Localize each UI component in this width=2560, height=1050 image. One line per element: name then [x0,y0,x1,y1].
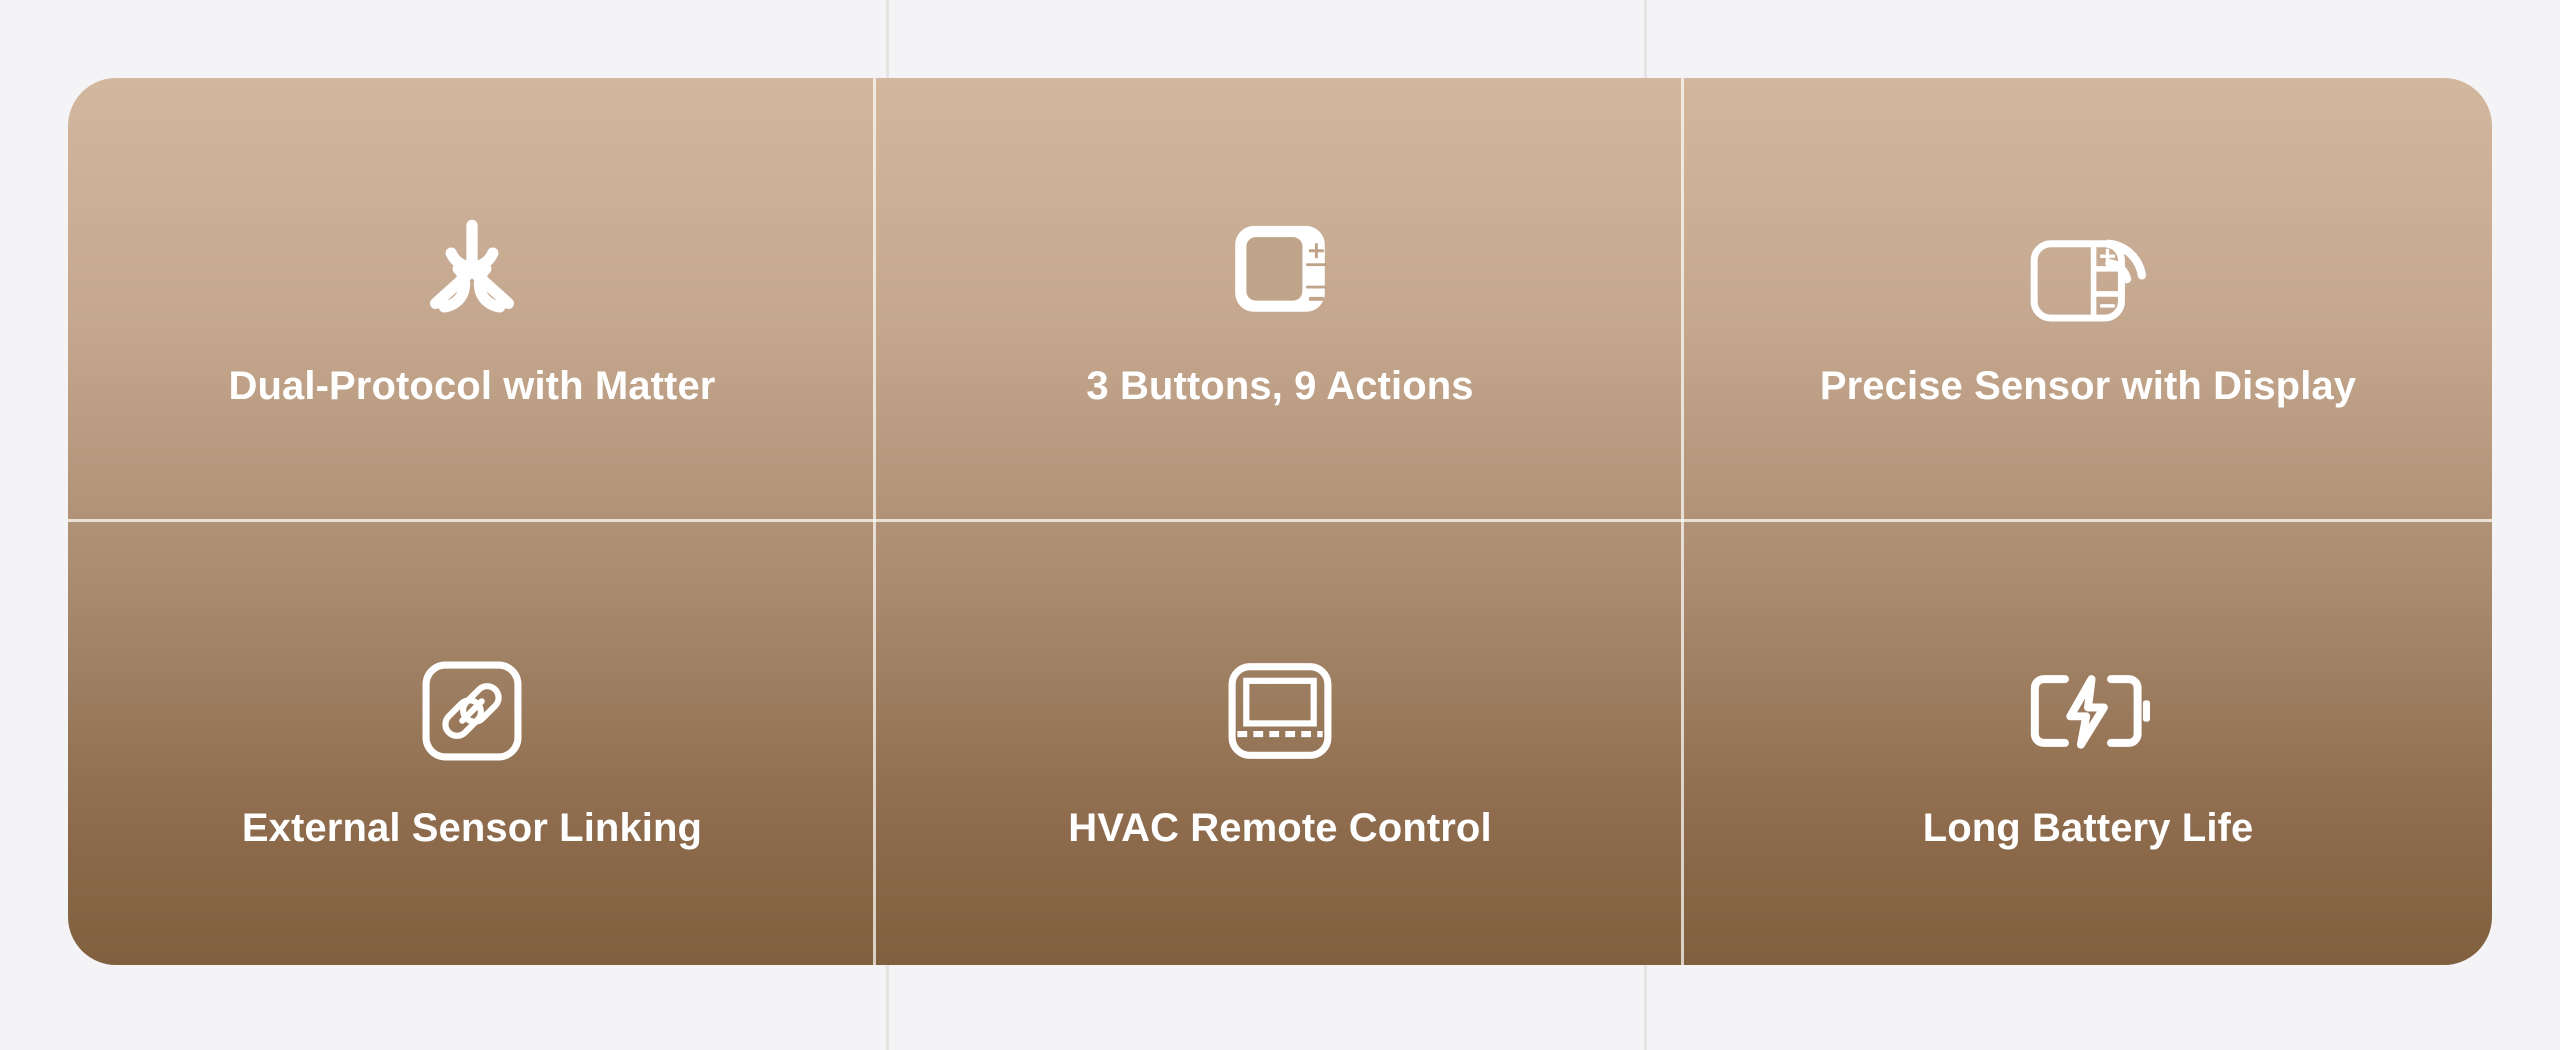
feature-label: Dual-Protocol with Matter [229,364,716,408]
feature-label: External Sensor Linking [242,806,702,850]
matter-logo-icon [397,192,547,342]
feature-cell-long-battery-life[interactable]: Long Battery Life [1684,522,2492,966]
feature-label: Long Battery Life [1923,806,2254,850]
feature-cell-hvac-remote-control[interactable]: HVAC Remote Control [876,522,1684,966]
feature-cell-three-buttons-nine-actions[interactable]: 3 Buttons, 9 Actions [876,78,1684,522]
battery-bolt-icon [2013,636,2163,786]
feature-cell-dual-protocol-matter[interactable]: Dual-Protocol with Matter [68,78,876,522]
hvac-unit-icon [1205,636,1355,786]
feature-label: 3 Buttons, 9 Actions [1086,364,1473,408]
wireless-sensor-display-icon [2013,192,2163,342]
feature-label: HVAC Remote Control [1068,806,1491,850]
feature-cell-precise-sensor-display[interactable]: Precise Sensor with Display [1684,78,2492,522]
chain-link-icon [397,636,547,786]
thermostat-buttons-icon [1205,192,1355,342]
feature-label: Precise Sensor with Display [1820,364,2356,408]
feature-cell-external-sensor-linking[interactable]: External Sensor Linking [68,522,876,966]
feature-grid-card: Dual-Protocol with Matter 3 Buttons, 9 A… [68,78,2492,965]
